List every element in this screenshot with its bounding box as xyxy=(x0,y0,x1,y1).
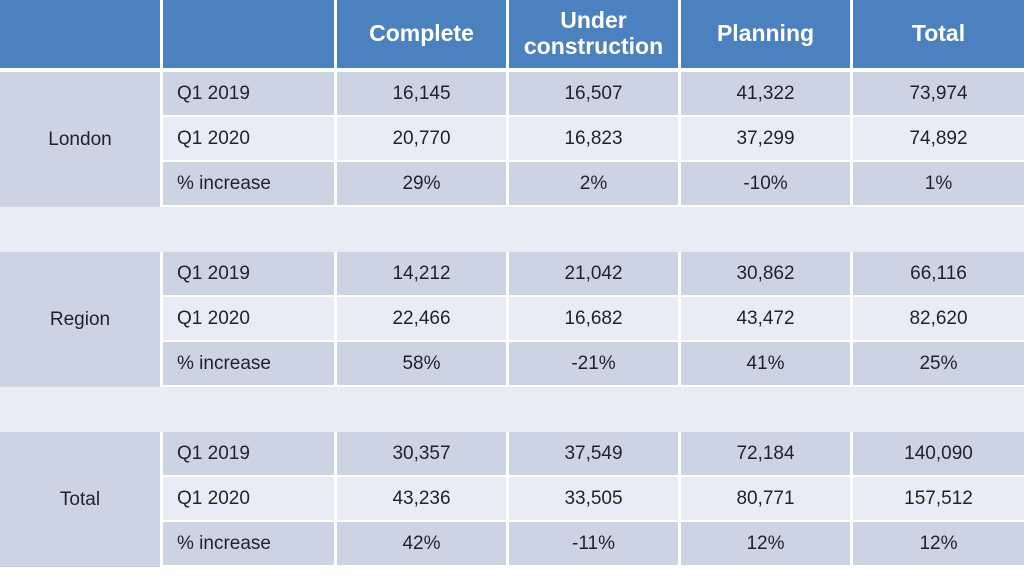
cell-complete: 20,770 xyxy=(337,117,509,162)
region-label-1: Region xyxy=(0,252,163,387)
table-row: London Q1 2019 16,145 16,507 41,322 73,9… xyxy=(0,72,1024,117)
cell-under-construction: 16,823 xyxy=(509,117,681,162)
period-label: Q1 2019 xyxy=(163,72,337,117)
cell-complete: 14,212 xyxy=(337,252,509,297)
cell-complete: 29% xyxy=(337,162,509,207)
cell-planning: 41% xyxy=(681,342,853,387)
column-header-total: Total xyxy=(853,0,1024,72)
block-separator xyxy=(0,207,1024,252)
cell-planning: -10% xyxy=(681,162,853,207)
cell-complete: 42% xyxy=(337,522,509,567)
cell-planning: 80,771 xyxy=(681,477,853,522)
cell-planning: 41,322 xyxy=(681,72,853,117)
header-row: Complete Under construction Planning Tot… xyxy=(0,0,1024,72)
slide-canvas: Complete Under construction Planning Tot… xyxy=(0,0,1024,576)
cell-total: 25% xyxy=(853,342,1024,387)
cell-total: 140,090 xyxy=(853,432,1024,477)
cell-total: 66,116 xyxy=(853,252,1024,297)
cell-planning: 12% xyxy=(681,522,853,567)
table-row: Region Q1 2019 14,212 21,042 30,862 66,1… xyxy=(0,252,1024,297)
column-header-period xyxy=(163,0,337,72)
cell-under-construction: 2% xyxy=(509,162,681,207)
construction-pipeline-table: Complete Under construction Planning Tot… xyxy=(0,0,1024,567)
period-label: % increase xyxy=(163,342,337,387)
cell-planning: 72,184 xyxy=(681,432,853,477)
period-label: Q1 2019 xyxy=(163,432,337,477)
cell-total: 74,892 xyxy=(853,117,1024,162)
column-header-planning: Planning xyxy=(681,0,853,72)
cell-planning: 30,862 xyxy=(681,252,853,297)
period-label: % increase xyxy=(163,162,337,207)
cell-planning: 37,299 xyxy=(681,117,853,162)
cell-total: 1% xyxy=(853,162,1024,207)
column-header-under-construction: Under construction xyxy=(509,0,681,72)
period-label: % increase xyxy=(163,522,337,567)
cell-complete: 22,466 xyxy=(337,297,509,342)
block-separator-cell xyxy=(0,207,1024,252)
cell-under-construction: 37,549 xyxy=(509,432,681,477)
cell-complete: 16,145 xyxy=(337,72,509,117)
cell-under-construction: 16,682 xyxy=(509,297,681,342)
cell-under-construction: 16,507 xyxy=(509,72,681,117)
cell-complete: 30,357 xyxy=(337,432,509,477)
cell-under-construction: -11% xyxy=(509,522,681,567)
period-label: Q1 2020 xyxy=(163,297,337,342)
table-header: Complete Under construction Planning Tot… xyxy=(0,0,1024,72)
period-label: Q1 2020 xyxy=(163,117,337,162)
cell-under-construction: -21% xyxy=(509,342,681,387)
cell-under-construction: 33,505 xyxy=(509,477,681,522)
block-separator xyxy=(0,387,1024,432)
cell-total: 73,974 xyxy=(853,72,1024,117)
region-label-0: London xyxy=(0,72,163,207)
cell-complete: 58% xyxy=(337,342,509,387)
period-label: Q1 2020 xyxy=(163,477,337,522)
cell-total: 82,620 xyxy=(853,297,1024,342)
column-header-complete: Complete xyxy=(337,0,509,72)
table-body: London Q1 2019 16,145 16,507 41,322 73,9… xyxy=(0,72,1024,567)
cell-total: 12% xyxy=(853,522,1024,567)
table-row: Total Q1 2019 30,357 37,549 72,184 140,0… xyxy=(0,432,1024,477)
cell-planning: 43,472 xyxy=(681,297,853,342)
cell-total: 157,512 xyxy=(853,477,1024,522)
column-header-region xyxy=(0,0,163,72)
block-separator-cell xyxy=(0,387,1024,432)
cell-under-construction: 21,042 xyxy=(509,252,681,297)
period-label: Q1 2019 xyxy=(163,252,337,297)
region-label-2: Total xyxy=(0,432,163,567)
cell-complete: 43,236 xyxy=(337,477,509,522)
